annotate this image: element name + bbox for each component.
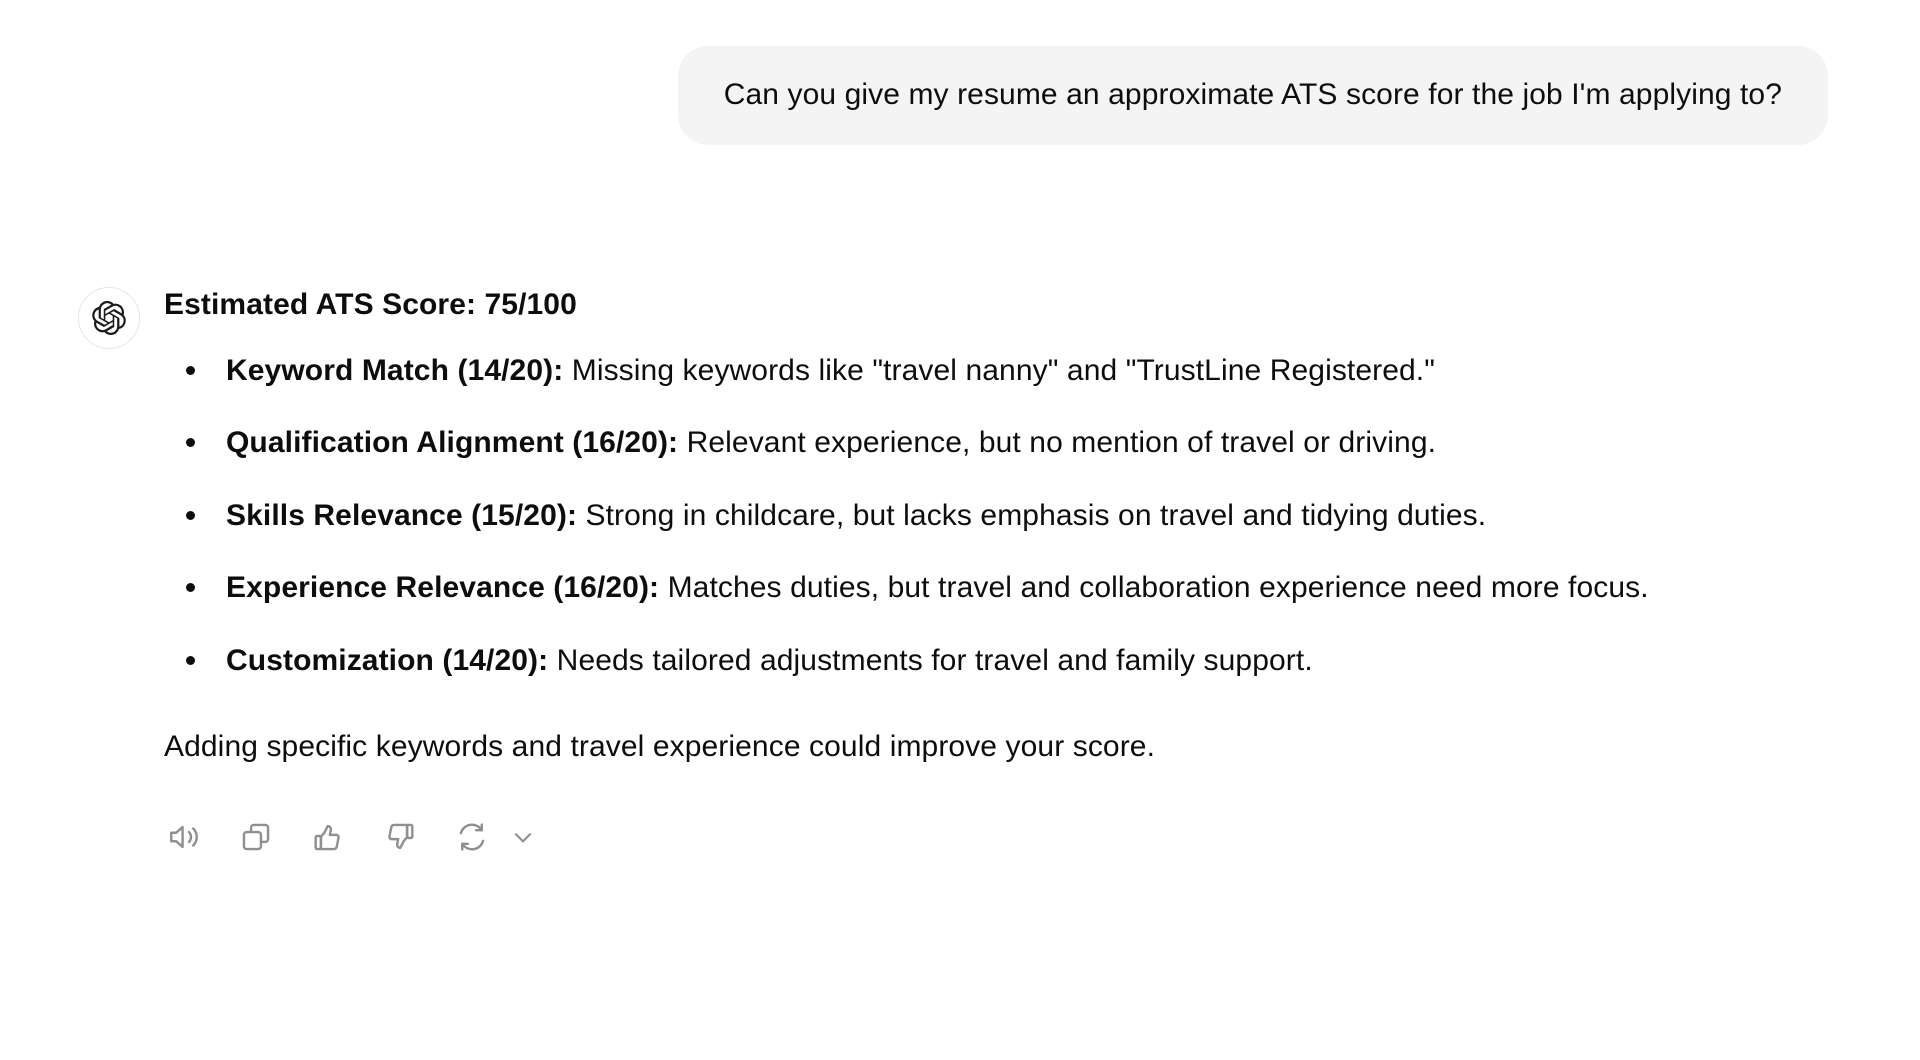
list-item: Experience Relevance (16/20): Matches du… <box>164 565 1864 612</box>
ats-breakdown-list: Keyword Match (14/20): Missing keywords … <box>164 348 1864 685</box>
thumbs-up-button[interactable] <box>304 813 352 861</box>
list-item: Skills Relevance (15/20): Strong in chil… <box>164 493 1864 540</box>
thumbs-down-icon <box>383 820 417 854</box>
list-item: Customization (14/20): Needs tailored ad… <box>164 638 1864 685</box>
bullet-dot-icon <box>186 656 195 665</box>
chevron-down-icon <box>510 824 536 850</box>
bullet-label: Qualification Alignment (16/20): <box>226 426 678 459</box>
thumbs-up-icon <box>311 820 345 854</box>
bullet-text: Matches duties, but travel and collabora… <box>659 571 1649 604</box>
copy-icon <box>239 820 273 854</box>
bullet-label: Customization (14/20): <box>226 644 548 677</box>
bullet-dot-icon <box>186 438 195 447</box>
more-options-button[interactable] <box>506 813 540 861</box>
speaker-icon <box>167 820 201 854</box>
list-item: Keyword Match (14/20): Missing keywords … <box>164 348 1864 395</box>
refresh-icon <box>455 820 489 854</box>
chat-conversation-page: Can you give my resume an approximate AT… <box>0 0 1920 1060</box>
bullet-dot-icon <box>186 583 195 592</box>
assistant-message-turn: Estimated ATS Score: 75/100 Keyword Matc… <box>0 285 1920 861</box>
bullet-text: Needs tailored adjustments for travel an… <box>548 644 1313 677</box>
bullet-dot-icon <box>186 511 195 520</box>
copy-button[interactable] <box>232 813 280 861</box>
bullet-text: Strong in childcare, but lacks emphasis … <box>577 499 1486 532</box>
user-message-bubble[interactable]: Can you give my resume an approximate AT… <box>678 46 1828 145</box>
user-message-turn: Can you give my resume an approximate AT… <box>0 0 1920 145</box>
assistant-avatar <box>78 287 140 349</box>
list-item: Qualification Alignment (16/20): Relevan… <box>164 420 1864 467</box>
ats-score-heading: Estimated ATS Score: 75/100 <box>164 285 1864 326</box>
closing-paragraph: Adding specific keywords and travel expe… <box>164 724 1864 769</box>
bullet-label: Experience Relevance (16/20): <box>226 571 659 604</box>
bullet-label: Skills Relevance (15/20): <box>226 499 577 532</box>
regenerate-button[interactable] <box>448 813 496 861</box>
bullet-dot-icon <box>186 366 195 375</box>
bullet-label: Keyword Match (14/20): <box>226 354 563 387</box>
openai-logo-icon <box>92 301 126 335</box>
bullet-text: Missing keywords like "travel nanny" and… <box>563 354 1435 387</box>
message-action-bar <box>160 813 1864 861</box>
read-aloud-button[interactable] <box>160 813 208 861</box>
bullet-text: Relevant experience, but no mention of t… <box>678 426 1436 459</box>
thumbs-down-button[interactable] <box>376 813 424 861</box>
assistant-message-body: Estimated ATS Score: 75/100 Keyword Matc… <box>164 285 1864 861</box>
